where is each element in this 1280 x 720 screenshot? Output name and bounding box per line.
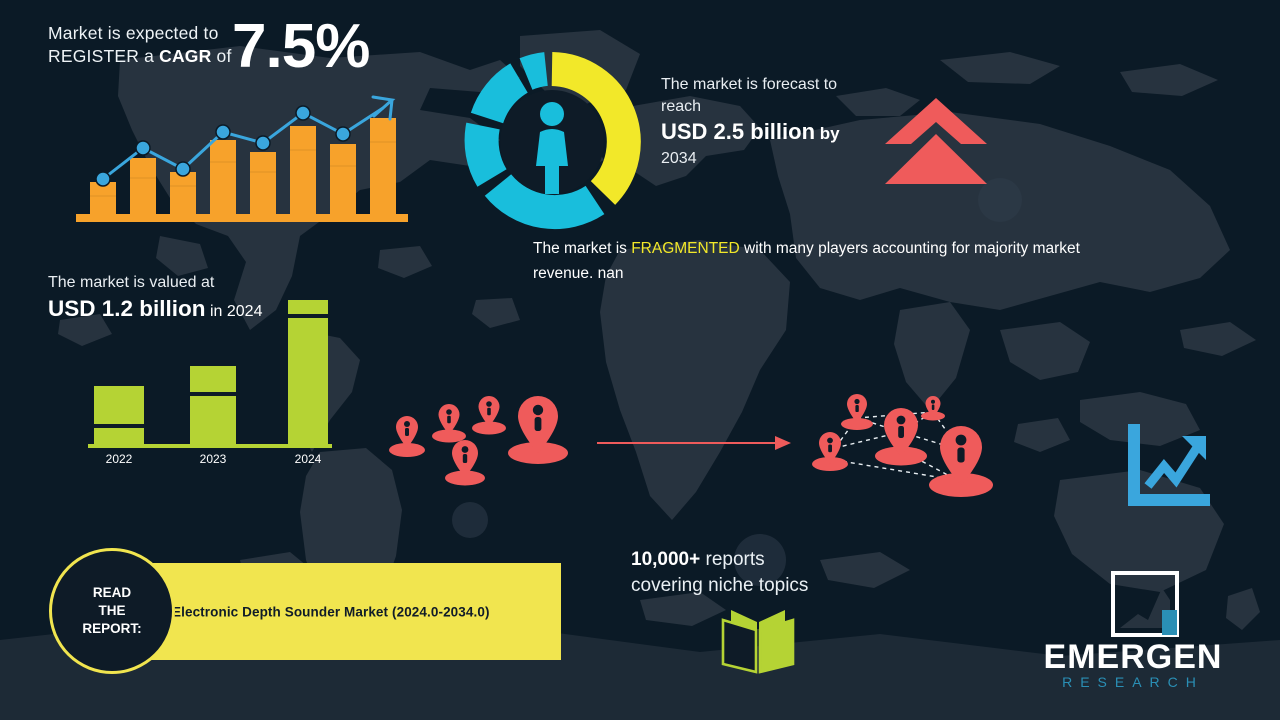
logo-mark-icon xyxy=(1110,570,1180,638)
cagr-value: 7.5% xyxy=(232,16,369,78)
forecast-year: 2034 xyxy=(661,148,901,170)
green-value-bar-chart xyxy=(80,296,340,471)
map-pin-cluster-left xyxy=(385,388,575,493)
forecast-line-1: The market is forecast to xyxy=(661,74,901,96)
market-share-donut-chart xyxy=(462,52,642,232)
forecast-value-suffix: by xyxy=(815,124,840,143)
badge-line-2: THE xyxy=(98,603,125,618)
forecast-line-2: reach xyxy=(661,96,901,118)
fragmentation-text-block: The market is FRAGMENTED with many playe… xyxy=(533,236,1213,286)
logo-wordmark: EMERGEN xyxy=(1018,638,1248,677)
badge-line-1: READ xyxy=(93,585,131,600)
x-label-2022: 2022 xyxy=(89,452,149,466)
fragmentation-prefix: The market is xyxy=(533,240,631,257)
right-arrow-icon xyxy=(595,432,795,454)
reports-line-1: 10,000+ reports xyxy=(631,547,891,573)
read-report-badge-label: READTHEREPORT: xyxy=(82,584,141,638)
infographic-canvas: Market is expected to REGISTER a CAGR of… xyxy=(0,0,1280,720)
fragmentation-line-1: The market is FRAGMENTED with many playe… xyxy=(533,236,1213,261)
double-chevron-up-icon xyxy=(883,96,989,186)
reports-line-2: covering niche topics xyxy=(631,573,891,599)
green-chart-x-labels: 2022 2023 2024 xyxy=(80,452,340,476)
fragmentation-suffix: with many players accounting for majorit… xyxy=(740,240,1080,257)
growth-chart-icon xyxy=(1122,422,1212,512)
valuation-line-1: The market is valued at xyxy=(48,272,378,294)
x-label-2024: 2024 xyxy=(278,452,338,466)
x-label-2023: 2023 xyxy=(183,452,243,466)
bar-2024 xyxy=(288,300,328,444)
forecast-text-block: The market is forecast to reach USD 2.5 … xyxy=(661,74,901,170)
cagr-line2-prefix: REGISTER a xyxy=(48,46,159,66)
bar-2023 xyxy=(190,366,236,444)
reports-count: 10,000+ xyxy=(631,549,700,570)
forecast-value-amount: USD 2.5 billion xyxy=(661,119,815,144)
cagr-keyword: CAGR xyxy=(159,46,211,66)
read-report-banner[interactable]: Electronic Depth Sounder Market (2024.0-… xyxy=(150,563,561,660)
emergen-research-logo: EMERGEN RESEARCH xyxy=(1018,570,1248,700)
read-report-badge[interactable]: READTHEREPORT: xyxy=(49,548,175,674)
badge-line-3: REPORT: xyxy=(82,621,141,636)
fragmentation-highlight: FRAGMENTED xyxy=(631,240,740,257)
orange-growth-bar-chart xyxy=(68,86,418,226)
fragmentation-line-2: revenue. nan xyxy=(533,261,1213,286)
forecast-value: USD 2.5 billion by xyxy=(661,118,901,148)
report-title: Electronic Depth Sounder Market (2024.0-… xyxy=(172,604,490,619)
cagr-line2-suffix: of xyxy=(211,46,231,66)
bar-2022 xyxy=(94,386,144,444)
map-pin-network-right xyxy=(805,388,1015,498)
open-book-icon xyxy=(717,608,799,674)
reports-text-block: 10,000+ reports covering niche topics xyxy=(631,547,891,599)
reports-count-suffix: reports xyxy=(700,549,764,570)
logo-subtitle: RESEARCH xyxy=(1018,674,1248,690)
